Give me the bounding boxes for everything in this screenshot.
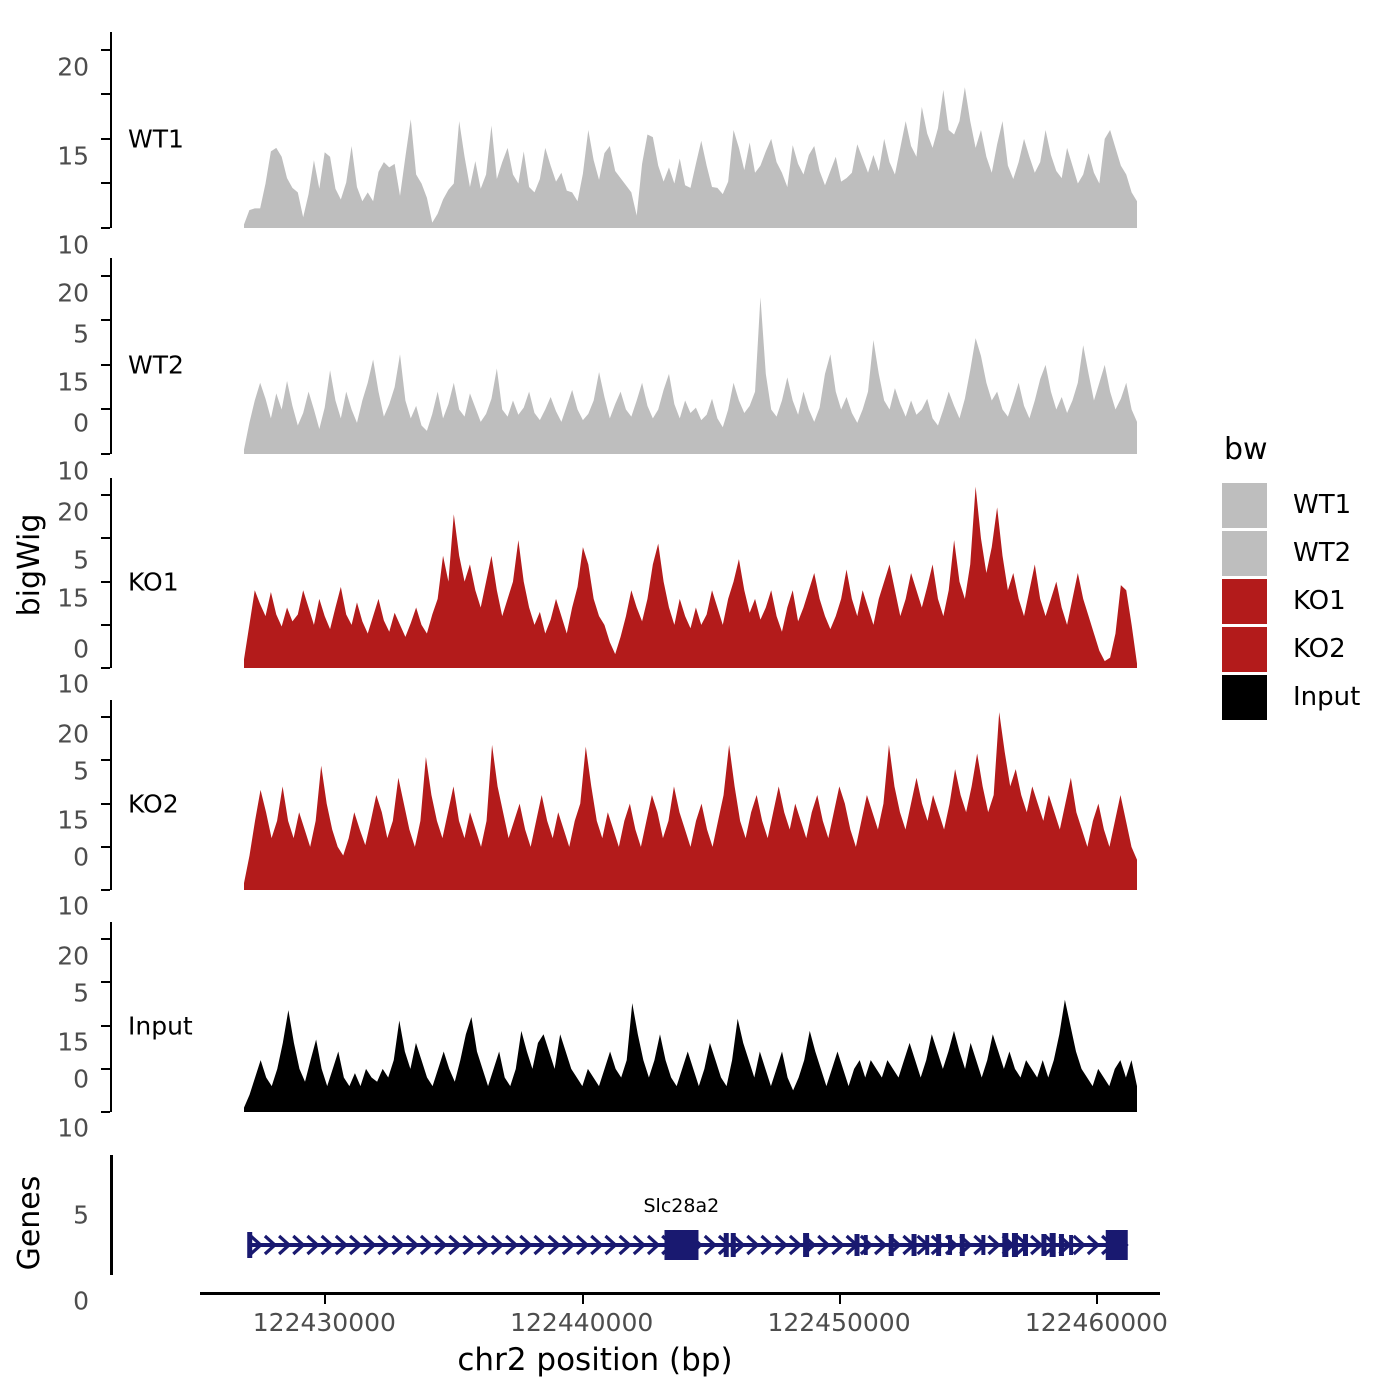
- gene-exon: [1050, 1233, 1056, 1257]
- y-tick-label: 20: [57, 943, 89, 968]
- y-tick-label: 0: [73, 1067, 89, 1092]
- y-tick-label: 0: [73, 637, 89, 662]
- y-tick-label: 10: [57, 458, 89, 483]
- y-tick: 10: [101, 581, 110, 583]
- legend-swatch: [1222, 579, 1267, 624]
- gene-exon: [936, 1234, 941, 1256]
- y-tick-label: 5: [73, 321, 89, 346]
- y-tick: 10: [101, 364, 110, 366]
- genes-panel: Slc28a2: [110, 1155, 1180, 1275]
- y-tick: 15: [101, 759, 110, 761]
- gene-exon: [1002, 1233, 1008, 1257]
- legend-item-ko2[interactable]: KO2: [1222, 625, 1360, 673]
- coverage-area-wt2: [112, 258, 1182, 454]
- x-tick-label: 122440000: [510, 1308, 653, 1337]
- legend-label: KO1: [1293, 586, 1346, 616]
- y-tick-label: 20: [57, 721, 89, 746]
- legend-label: WT2: [1293, 538, 1351, 568]
- legend-label: WT1: [1293, 490, 1351, 520]
- coverage-area-input: [112, 922, 1182, 1112]
- y-tick-label: 15: [57, 143, 89, 168]
- gene-exon: [731, 1233, 736, 1257]
- y-tick: 20: [101, 716, 110, 718]
- x-tick: [582, 1295, 584, 1304]
- y-tick-label: 5: [73, 758, 89, 783]
- gene-exon: [664, 1230, 698, 1260]
- y-tick: 5: [101, 408, 110, 410]
- y-tick-label: 5: [73, 980, 89, 1005]
- y-tick-label: 10: [57, 232, 89, 257]
- y-tick-label: 0: [73, 411, 89, 436]
- x-axis-title: chr2 position (bp): [0, 1342, 1190, 1378]
- legend: bw WT1WT2KO1KO2Input: [1222, 432, 1360, 721]
- x-tick: [839, 1295, 841, 1304]
- y-tick-label: 10: [57, 672, 89, 697]
- y-tick: 10: [101, 803, 110, 805]
- gene-exon: [854, 1234, 859, 1256]
- x-tick-label: 122460000: [1025, 1308, 1168, 1337]
- y-tick: 20: [101, 49, 110, 51]
- x-tick: [324, 1295, 326, 1304]
- gene-exon: [1012, 1233, 1018, 1257]
- gene-exon: [981, 1235, 985, 1255]
- y-tick: 5: [101, 1068, 110, 1070]
- y-tick: 10: [101, 138, 110, 140]
- legend-swatch: [1222, 483, 1267, 528]
- gene-exon: [912, 1234, 917, 1256]
- x-axis-line: [200, 1292, 1160, 1295]
- gene-exon: [1041, 1234, 1046, 1256]
- gene-exon: [1023, 1234, 1028, 1256]
- y-tick: 0: [101, 667, 110, 669]
- coverage-area-wt1: [112, 32, 1182, 228]
- x-tick-label: 122450000: [767, 1308, 910, 1337]
- track-panel-wt1: 05101520WT1: [110, 32, 1180, 228]
- y-tick: 15: [101, 93, 110, 95]
- x-tick: [1096, 1295, 1098, 1304]
- track-panel-wt2: 05101520WT2: [110, 258, 1180, 454]
- y-tick: 5: [101, 846, 110, 848]
- y-tick-label: 20: [57, 499, 89, 524]
- y-tick: 15: [101, 319, 110, 321]
- y-tick: 20: [101, 494, 110, 496]
- gene-exon: [803, 1233, 809, 1257]
- track-panel-ko1: 05101520KO1: [110, 478, 1180, 668]
- y-tick-label: 10: [57, 894, 89, 919]
- track-panel-ko2: 05101520KO2: [110, 700, 1180, 890]
- legend-label: KO2: [1293, 634, 1346, 664]
- y-tick-label: 5: [73, 547, 89, 572]
- y-tick: 5: [101, 624, 110, 626]
- y-tick-label: 10: [57, 1116, 89, 1141]
- y-tick-label: 20: [57, 54, 89, 79]
- legend-item-wt1[interactable]: WT1: [1222, 481, 1360, 529]
- y-tick: 0: [101, 1111, 110, 1113]
- y-tick: 5: [101, 182, 110, 184]
- y-tick-label: 15: [57, 1029, 89, 1054]
- y-tick-label: 0: [73, 1289, 89, 1314]
- legend-swatch: [1222, 531, 1267, 576]
- y-tick-label: 20: [57, 280, 89, 305]
- y-tick: 0: [101, 453, 110, 455]
- legend-item-wt2[interactable]: WT2: [1222, 529, 1360, 577]
- y-tick: 15: [101, 981, 110, 983]
- gene-exon: [247, 1232, 252, 1258]
- y-tick: 20: [101, 275, 110, 277]
- gene-name-label: Slc28a2: [110, 1195, 1180, 1217]
- y-tick-label: 5: [73, 1202, 89, 1227]
- legend-swatch: [1222, 627, 1267, 672]
- gene-exon: [960, 1234, 965, 1256]
- gene-exon: [1069, 1235, 1073, 1255]
- gene-exon: [948, 1235, 952, 1255]
- legend-item-ko1[interactable]: KO1: [1222, 577, 1360, 625]
- legend-items: WT1WT2KO1KO2Input: [1222, 481, 1360, 721]
- legend-title: bw: [1224, 432, 1360, 467]
- y-tick-label: 0: [73, 845, 89, 870]
- y-tick-label: 15: [57, 369, 89, 394]
- gene-exon: [1106, 1230, 1128, 1260]
- x-tick-label: 122430000: [253, 1308, 396, 1337]
- y-tick: 15: [101, 537, 110, 539]
- legend-item-input[interactable]: Input: [1222, 673, 1360, 721]
- gene-exon: [724, 1233, 729, 1257]
- gene-exon: [1059, 1234, 1064, 1256]
- coverage-area-ko2: [112, 700, 1182, 890]
- gene-exon: [889, 1234, 894, 1256]
- coverage-area-ko1: [112, 478, 1182, 668]
- y-tick: 20: [101, 938, 110, 940]
- y-tick: 0: [101, 889, 110, 891]
- legend-swatch: [1222, 675, 1267, 720]
- y-tick-label: 15: [57, 807, 89, 832]
- y-tick: 10: [101, 1025, 110, 1027]
- legend-label: Input: [1293, 682, 1360, 712]
- y-tick-label: 15: [57, 585, 89, 610]
- y-tick: 0: [101, 227, 110, 229]
- bigwig-axis-title: bigWig: [10, 475, 50, 655]
- gene-exon: [925, 1235, 929, 1255]
- track-panel-input: 05101520Input: [110, 922, 1180, 1112]
- genes-axis-title: Genes: [12, 1148, 48, 1298]
- gene-exon: [864, 1235, 868, 1255]
